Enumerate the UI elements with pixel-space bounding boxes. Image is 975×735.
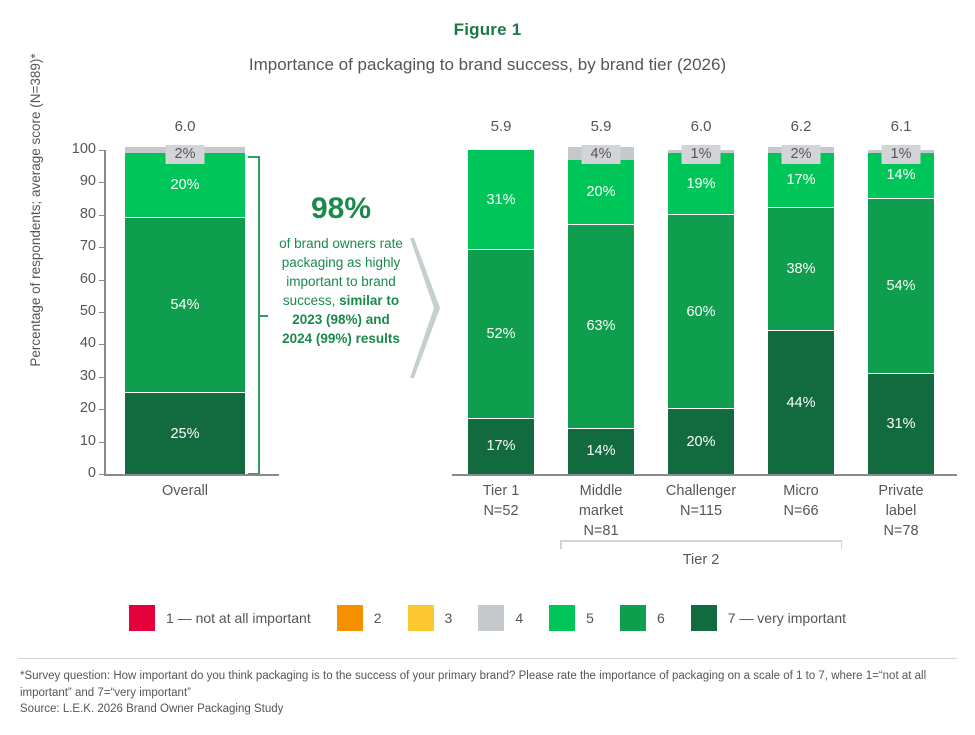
callout-bracket-arm xyxy=(248,156,258,158)
y-axis-tick-mark xyxy=(99,150,105,151)
callout-description: of brand owners rate packaging as highly… xyxy=(279,234,403,348)
bar-segment-7-very-important: 20% xyxy=(668,409,734,474)
legend-swatch-5 xyxy=(549,605,575,631)
average-score-label: 6.1 xyxy=(891,118,912,135)
bar-segment-5: 20% xyxy=(568,160,634,225)
figure-label: Figure 1 xyxy=(0,20,975,40)
callout-bracket-tick xyxy=(258,315,268,317)
y-axis-tick-label: 100 xyxy=(58,141,96,157)
tier2-bracket-arm xyxy=(560,540,562,549)
x-axis-label-tier-1: Tier 1 N=52 xyxy=(445,481,557,521)
tier2-bracket-line xyxy=(560,540,842,542)
legend-item-4: 4 xyxy=(478,605,523,631)
average-score-label: 6.2 xyxy=(791,118,812,135)
average-score-label: 6.0 xyxy=(175,118,196,135)
legend-item-3: 3 xyxy=(408,605,453,631)
tier2-label: Tier 2 xyxy=(683,552,720,568)
tier2-bracket-arm xyxy=(841,540,843,549)
x-axis-line-right xyxy=(452,474,957,476)
y-axis-tick-mark xyxy=(99,280,105,281)
callout-percentage: 98% xyxy=(251,192,431,226)
legend-label-1: 1 — not at all important xyxy=(166,610,311,626)
y-axis-tick-mark xyxy=(99,215,105,216)
x-axis-label-challenger: Challenger N=115 xyxy=(645,481,757,521)
legend-swatch-7 xyxy=(691,605,717,631)
legend-item-5: 5 xyxy=(549,605,594,631)
y-axis-tick-label: 40 xyxy=(58,335,96,351)
legend-label-4: 4 xyxy=(515,610,523,626)
figure-title: Importance of packaging to brand success… xyxy=(0,55,975,75)
segment-label-4: 4% xyxy=(582,145,621,164)
x-axis-label-overall: Overall xyxy=(102,481,268,501)
average-score-label: 5.9 xyxy=(591,118,612,135)
y-axis-tick-label: 20 xyxy=(58,400,96,416)
bar-segment-7-very-important: 14% xyxy=(568,429,634,474)
footnotes: *Survey question: How important do you t… xyxy=(20,668,955,718)
segment-label-4: 1% xyxy=(882,145,921,164)
callout-description-emphasis: similar to 2023 (98%) and 2024 (99%) res… xyxy=(282,293,400,346)
callout-bracket-arm xyxy=(248,473,258,475)
legend-swatch-6 xyxy=(620,605,646,631)
x-axis-label-middle-market: Middle market N=81 xyxy=(545,481,657,541)
y-axis-tick-mark xyxy=(99,182,105,183)
legend-label-2: 2 xyxy=(374,610,382,626)
y-axis-tick-mark xyxy=(99,442,105,443)
bar-challenger: 20%60%19% xyxy=(668,150,734,474)
x-axis-label-micro: Micro N=66 xyxy=(745,481,857,521)
x-axis-line-left xyxy=(104,474,279,476)
bar-segment-7-very-important: 31% xyxy=(868,374,934,474)
x-axis-label-private-label: Private label N=78 xyxy=(845,481,957,541)
figure-root: Figure 1 Importance of packaging to bran… xyxy=(0,0,975,735)
legend-swatch-4 xyxy=(478,605,504,631)
segment-label-4: 1% xyxy=(682,145,721,164)
legend-swatch-3 xyxy=(408,605,434,631)
legend-swatch-1 xyxy=(129,605,155,631)
bar-segment-6: 63% xyxy=(568,225,634,429)
y-axis-tick-label: 10 xyxy=(58,433,96,449)
y-axis-tick-label: 60 xyxy=(58,271,96,287)
footnote-divider xyxy=(18,658,957,659)
legend-item-2: 2 xyxy=(337,605,382,631)
y-axis-tick-label: 0 xyxy=(58,465,96,481)
legend-item-6: 6 xyxy=(620,605,665,631)
bar-overall: 25%54%20% xyxy=(125,150,245,474)
footnote-survey: *Survey question: How important do you t… xyxy=(20,670,926,699)
legend-swatch-2 xyxy=(337,605,363,631)
footnote-source: Source: L.E.K. 2026 Brand Owner Packagin… xyxy=(20,701,955,718)
y-axis-tick-label: 90 xyxy=(58,173,96,189)
bar-segment-7-very-important: 25% xyxy=(125,393,245,474)
average-score-label: 6.0 xyxy=(691,118,712,135)
bar-segment-6: 52% xyxy=(468,250,534,418)
y-axis-tick-label: 30 xyxy=(58,368,96,384)
bar-segment-6: 54% xyxy=(868,199,934,374)
bar-segment-7-very-important: 44% xyxy=(768,331,834,474)
y-axis-tick-mark xyxy=(99,247,105,248)
legend-label-3: 3 xyxy=(445,610,453,626)
bar-segment-6: 38% xyxy=(768,208,834,331)
legend-item-1: 1 — not at all important xyxy=(129,605,311,631)
bar-segment-7-very-important: 17% xyxy=(468,419,534,474)
legend-label-6: 6 xyxy=(657,610,665,626)
y-axis-tick-label: 80 xyxy=(58,206,96,222)
bar-segment-6: 54% xyxy=(125,218,245,393)
segment-label-4: 2% xyxy=(782,145,821,164)
y-axis-tick-mark xyxy=(99,409,105,410)
average-score-label: 5.9 xyxy=(491,118,512,135)
y-axis-tick-mark xyxy=(99,312,105,313)
bar-private-label: 31%54%14% xyxy=(868,150,934,474)
bar-middle-market: 14%63%20% xyxy=(568,150,634,474)
legend-label-7: 7 — very important xyxy=(728,610,846,626)
bar-segment-6: 60% xyxy=(668,215,734,409)
y-axis-tick-mark xyxy=(99,377,105,378)
legend-item-7: 7 — very important xyxy=(691,605,846,631)
bar-tier-1: 17%52%31% xyxy=(468,150,534,474)
segment-label-4: 2% xyxy=(166,145,205,164)
y-axis-tick-label: 70 xyxy=(58,238,96,254)
y-axis-tick-mark xyxy=(99,344,105,345)
chevron-right-icon xyxy=(410,238,446,378)
legend: 1 — not at all important234567 — very im… xyxy=(0,605,975,631)
y-axis-tick-label: 50 xyxy=(58,303,96,319)
bar-segment-5: 31% xyxy=(468,150,534,250)
bar-micro: 44%38%17% xyxy=(768,150,834,474)
legend-label-5: 5 xyxy=(586,610,594,626)
